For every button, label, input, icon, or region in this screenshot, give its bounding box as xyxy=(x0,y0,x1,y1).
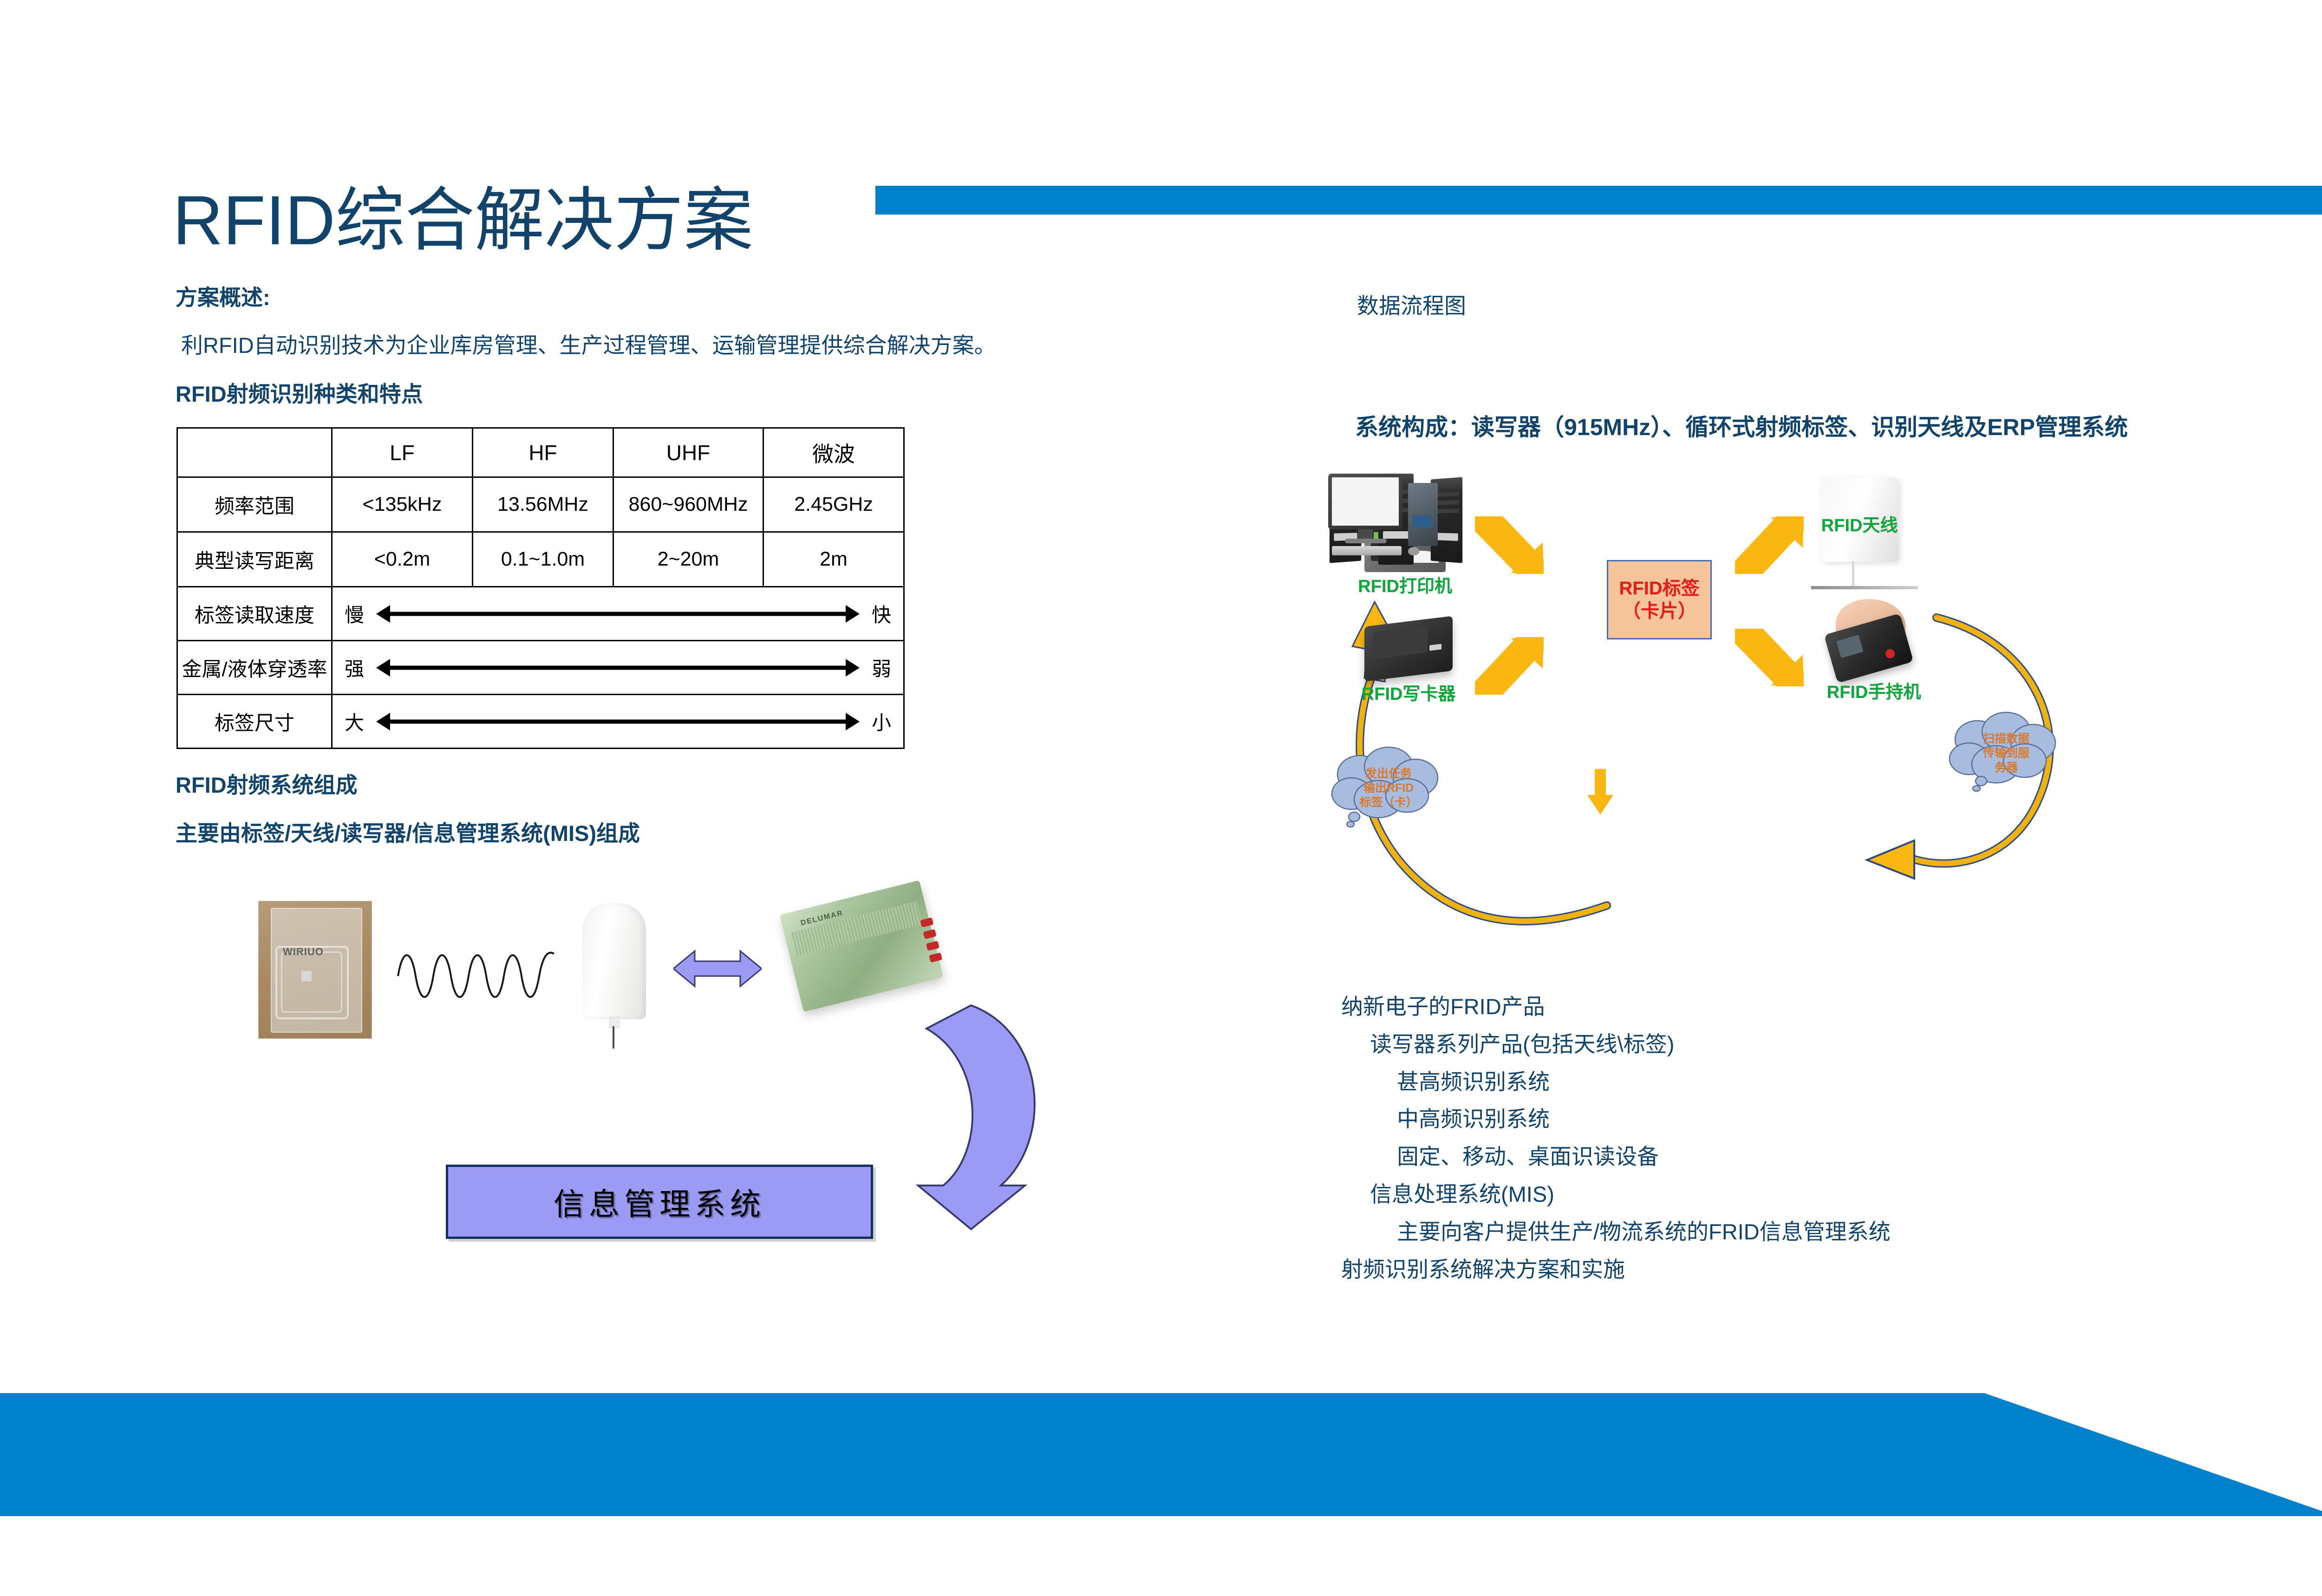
slide-root: RFID综合解决方案 方案概述: 利RFID自动识别技术为企业库房管理、生产过程… xyxy=(0,0,2322,1596)
antenna-connector xyxy=(609,1017,620,1028)
tag-size-left-word: 大 xyxy=(345,707,364,736)
arrow-tag-to-handheld-icon xyxy=(1732,627,1807,692)
rfid-handheld-label: RFID手持机 xyxy=(1827,677,1921,703)
table-row: 标签尺寸 大 小 xyxy=(177,695,904,749)
table-header-blank xyxy=(177,428,332,477)
table-row: 频率范围 <135kHz 13.56MHz 860~960MHz 2.45GHz xyxy=(177,477,904,532)
system-composition-summary: 系统构成：读写器（915MHz）、循环式射频标签、识别天线及ERP管理系统 xyxy=(1355,409,2128,442)
list-item: 纳新电子的FRID产品 xyxy=(1341,988,1891,1026)
table-header-uhf: UHF xyxy=(613,428,763,477)
cell-tag-size-gradient: 大 小 xyxy=(332,695,904,749)
mis-box: 信息管理系统 xyxy=(446,1165,873,1239)
radio-wave-icon xyxy=(397,947,555,1005)
right-cloud-callout: 扫描数据 传输到服 务器 xyxy=(1941,710,2071,796)
list-item: 射频识别系统解决方案和实施 xyxy=(1341,1251,1891,1289)
read-speed-left-word: 慢 xyxy=(345,599,364,628)
rfid-card-writer-device: RFID写卡器 xyxy=(1364,621,1453,676)
antenna-wire xyxy=(1852,561,1854,587)
rfid-tag-center-box: RFID标签 （卡片） xyxy=(1607,560,1712,639)
cell-frequency-microwave: 2.45GHz xyxy=(763,477,904,532)
row-label-distance: 典型读写距离 xyxy=(177,532,332,587)
row-label-read-speed: 标签读取速度 xyxy=(177,587,332,641)
curved-down-arrow-icon xyxy=(861,1001,1057,1233)
left-cloud-callout: 发出任务 输出RFID 标签（卡） xyxy=(1324,745,1454,831)
right-cloud-text: 扫描数据 传输到服 务器 xyxy=(1941,732,2071,775)
table-row: 标签读取速度 慢 快 xyxy=(177,587,904,641)
rfid-tag-line2: （卡片） xyxy=(1622,600,1696,623)
rfid-card-writer-label: RFID写卡器 xyxy=(1362,679,1456,705)
bidirectional-arrow-icon xyxy=(673,947,762,990)
table-header-row: LF HF UHF 微波 xyxy=(177,428,904,477)
system-composition-body: 主要由标签/天线/读写器/信息管理系统(MIS)组成 xyxy=(176,815,640,847)
list-item: 固定、移动、桌面识读设备 xyxy=(1397,1138,1891,1176)
cell-frequency-hf: 13.56MHz xyxy=(473,477,613,532)
table-row: 典型读写距离 <0.2m 0.1~1.0m 2~20m 2m xyxy=(177,532,904,587)
left-cloud-text: 发出任务 输出RFID 标签（卡） xyxy=(1324,767,1454,810)
rfid-tag-line1: RFID标签 xyxy=(1619,577,1699,600)
list-item: 主要向客户提供生产/物流系统的FRID信息管理系统 xyxy=(1397,1213,1891,1251)
arrow-printer-to-tag-icon xyxy=(1472,515,1546,576)
rfid-printer-label: RFID打印机 xyxy=(1358,572,1452,597)
read-speed-right-word: 快 xyxy=(872,599,891,628)
double-arrow-icon xyxy=(376,662,860,673)
penetration-left-word: 强 xyxy=(345,653,364,682)
table-header-lf: LF xyxy=(332,428,473,477)
rfid-tag-photo: WIRIUO xyxy=(258,901,372,1039)
overview-body: 利RFID自动识别技术为企业库房管理、生产过程管理、运输管理提供综合解决方案。 xyxy=(181,327,996,359)
tag-size-right-word: 小 xyxy=(872,707,891,736)
rfid-types-heading: RFID射频识别种类和特点 xyxy=(176,376,423,408)
cell-distance-uhf: 2~20m xyxy=(613,532,763,587)
row-label-frequency: 频率范围 xyxy=(177,477,332,532)
data-flow-heading: 数据流程图 xyxy=(1357,288,1466,320)
table-header-hf: HF xyxy=(473,428,613,477)
rfid-comparison-table: LF HF UHF 微波 频率范围 <135kHz 13.56MHz 860~9… xyxy=(176,427,905,749)
system-composition-heading: RFID射频系统组成 xyxy=(176,767,358,799)
cell-read-speed-gradient: 慢 快 xyxy=(332,587,904,641)
rfid-handheld-device: RFID手持机 xyxy=(1827,599,1920,692)
rfid-data-flow-diagram: RFID打印机 RFID写卡器 RFID天线 RFID手持机 xyxy=(1328,474,2164,961)
rfid-reader-photo: DELUMAR xyxy=(780,880,944,1012)
table-row: 金属/液体穿透率 强 弱 xyxy=(177,641,904,695)
cell-distance-microwave: 2m xyxy=(763,532,904,587)
bottom-banner-shape xyxy=(0,1393,2322,1516)
cell-distance-hf: 0.1~1.0m xyxy=(473,532,613,587)
list-item: 读写器系列产品(包括天线\标签) xyxy=(1370,1026,1891,1063)
double-arrow-icon xyxy=(376,716,860,727)
penetration-right-word: 弱 xyxy=(872,653,891,682)
mis-box-label: 信息管理系统 xyxy=(554,1179,765,1224)
rfid-antenna-device: RFID天线 xyxy=(1820,477,1898,562)
page-title: RFID综合解决方案 xyxy=(173,184,753,257)
row-label-tag-size: 标签尺寸 xyxy=(177,695,332,749)
table-header-microwave: 微波 xyxy=(763,428,904,477)
rfid-comparison-table-wrap: LF HF UHF 微波 频率范围 <135kHz 13.56MHz 860~9… xyxy=(176,427,905,749)
antenna-base-rail xyxy=(1811,586,1918,589)
cell-frequency-lf: <135kHz xyxy=(332,477,473,532)
overview-heading: 方案概述: xyxy=(176,280,270,312)
cell-frequency-uhf: 860~960MHz xyxy=(613,477,763,532)
rfid-antenna-photo xyxy=(582,903,646,1019)
rfid-antenna-label: RFID天线 xyxy=(1821,511,1898,536)
list-item: 中高频识别系统 xyxy=(1397,1101,1891,1138)
product-bullet-list: 纳新电子的FRID产品 读写器系列产品(包括天线\标签) 甚高频识别系统 中高频… xyxy=(1341,988,1891,1289)
antenna-cable xyxy=(613,1026,614,1049)
row-label-penetration: 金属/液体穿透率 xyxy=(177,641,332,695)
cell-distance-lf: <0.2m xyxy=(332,532,473,587)
list-item: 信息处理系统(MIS) xyxy=(1370,1176,1891,1213)
top-banner-bar xyxy=(875,186,2322,215)
list-item: 甚高频识别系统 xyxy=(1397,1063,1891,1101)
double-arrow-icon xyxy=(376,608,860,619)
cell-penetration-gradient: 强 弱 xyxy=(332,641,904,695)
arrow-tag-to-antenna-icon xyxy=(1732,506,1807,576)
